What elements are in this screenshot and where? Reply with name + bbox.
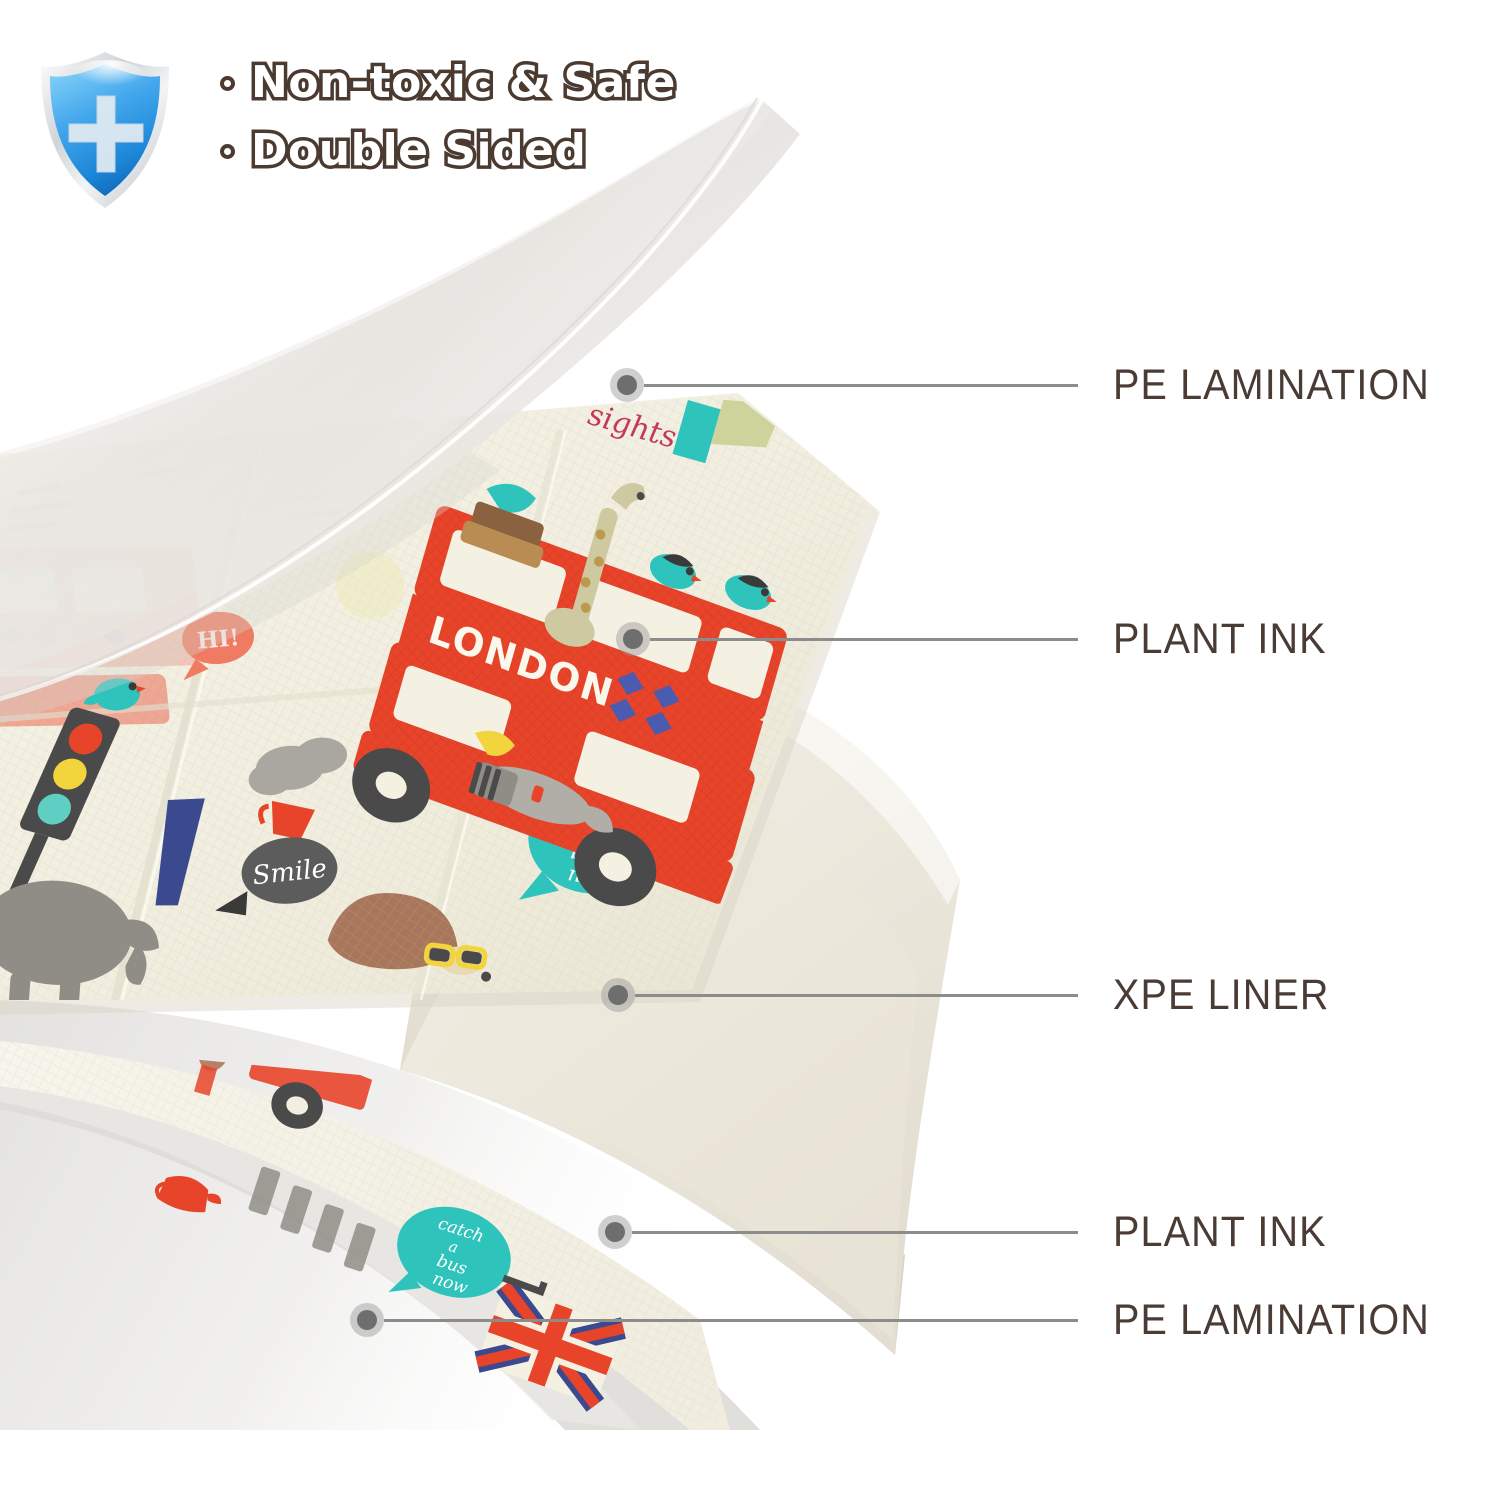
callout-leader-pe-lamination-top [644, 384, 1078, 387]
callout-marker-pe-lamination-bottom [350, 1303, 384, 1337]
callout-leader-plant-ink-bottom [632, 1231, 1078, 1234]
feature-bullet-list: Non-toxic & Safe Double Sided [220, 52, 740, 188]
feature-badge-header: Non-toxic & Safe Double Sided [30, 40, 730, 220]
callout-label-plant-ink-top: PLANT INK [1113, 615, 1327, 664]
callout-marker-plant-ink-bottom [598, 1215, 632, 1249]
feature-label-non-toxic: Non-toxic & Safe [251, 61, 676, 105]
callout-pe-lamination-top: PE LAMINATION [1113, 357, 1458, 413]
feature-bullet-item: Non-toxic & Safe [220, 52, 740, 114]
callout-label-plant-ink-bottom: PLANT INK [1113, 1208, 1327, 1257]
bullet-marker-icon [220, 144, 235, 159]
feature-label-double-sided: Double Sided [251, 129, 586, 173]
callout-plant-ink-top: PLANT INK [1113, 611, 1345, 667]
exploded-layer-illustration: catch a bus now [0, 0, 1500, 1500]
shield-plus-icon [35, 48, 175, 213]
callout-leader-plant-ink-top [650, 638, 1078, 641]
callout-label-pe-lamination-top: PE LAMINATION [1113, 361, 1430, 410]
callout-marker-plant-ink-top [616, 622, 650, 656]
callout-pe-lamination-bottom: PE LAMINATION [1113, 1292, 1458, 1348]
callout-label-pe-lamination-bottom: PE LAMINATION [1113, 1296, 1430, 1345]
infographic-canvas: catch a bus now [0, 0, 1500, 1500]
callout-plant-ink-bottom: PLANT INK [1113, 1204, 1345, 1260]
callout-xpe-liner: XPE LINER [1113, 967, 1348, 1023]
callout-leader-pe-lamination-bottom [384, 1319, 1078, 1322]
bullet-marker-icon [220, 76, 235, 91]
callout-label-xpe-liner: XPE LINER [1113, 971, 1330, 1020]
callout-marker-pe-lamination-top [610, 368, 644, 402]
callout-marker-xpe-liner [601, 978, 635, 1012]
layer-stack-svg: catch a bus now [0, 0, 1500, 1500]
callout-leader-xpe-liner [635, 994, 1078, 997]
feature-bullet-item: Double Sided [220, 120, 740, 182]
